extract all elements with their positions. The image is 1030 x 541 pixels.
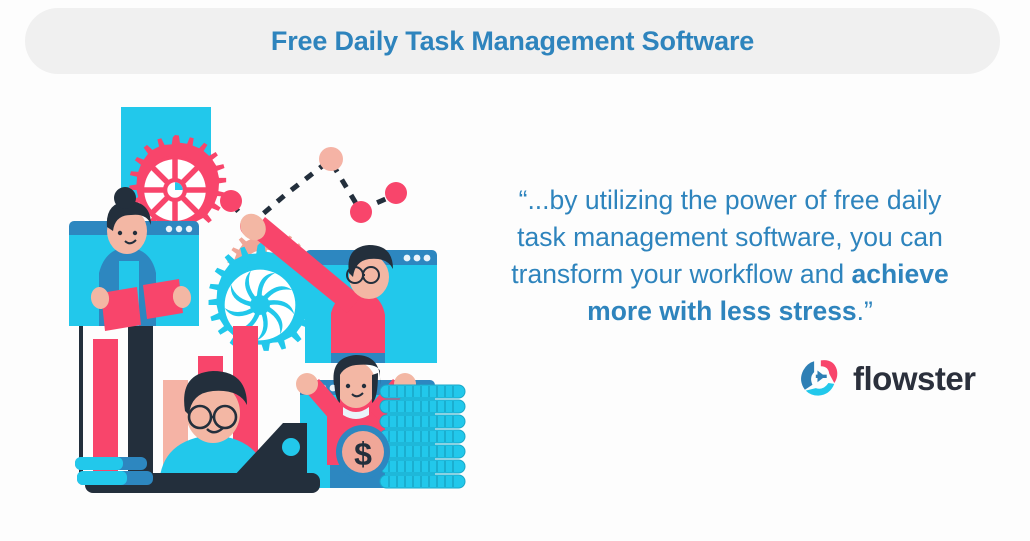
dollar-symbol: $ [354, 436, 372, 472]
quote-text: “...by utilizing the power of free daily… [496, 182, 964, 330]
quote-line-2: task management software, you can [517, 222, 943, 252]
poster-canvas: Free Daily Task Management Software [0, 0, 1030, 541]
quote-line-3-bold: achieve [851, 259, 948, 289]
flowster-triangle-swoosh-icon [799, 357, 841, 399]
coin-stack [380, 385, 465, 488]
quote-line-4-bold: more with less stress [587, 296, 857, 326]
quote-line-1: “...by utilizing the power of free daily [519, 185, 942, 215]
flowster-logo: flowster [799, 357, 976, 399]
task-management-team-illustration: $ [55, 85, 495, 500]
quote-block: “...by utilizing the power of free daily… [496, 182, 964, 330]
title-banner: Free Daily Task Management Software [25, 8, 1000, 74]
quote-line-3-regular: transform your workflow and [511, 259, 851, 289]
flowster-wordmark: flowster [853, 362, 976, 395]
dollar-coin: $ [336, 425, 390, 479]
quote-line-4-tail: .” [857, 296, 873, 326]
page-title: Free Daily Task Management Software [271, 26, 754, 57]
